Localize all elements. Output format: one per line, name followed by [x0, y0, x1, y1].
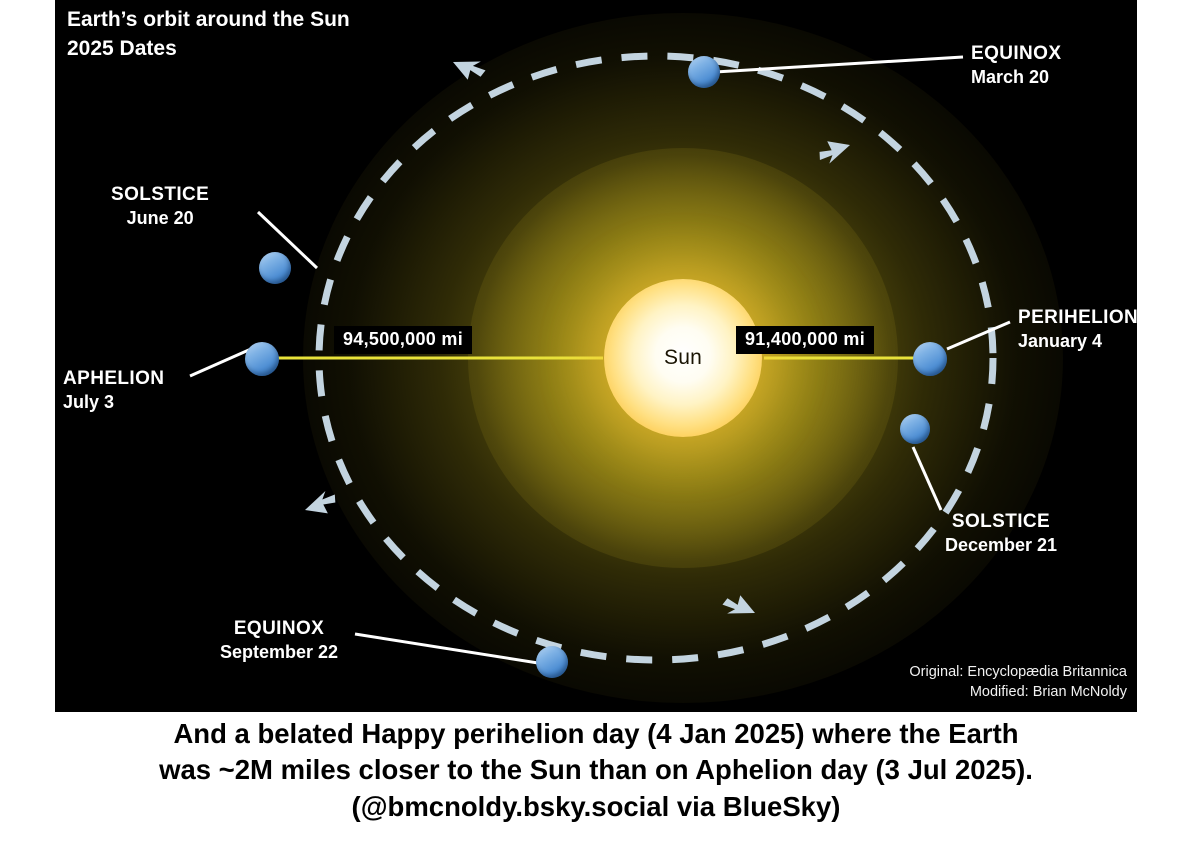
label-aphelion-date: July 3	[63, 391, 164, 414]
earth-marker-solstice-december[interactable]	[900, 414, 930, 444]
leader-line-solstice-december	[913, 447, 941, 510]
orbit-graphics	[55, 0, 1137, 712]
label-aphelion-event: APHELION	[63, 367, 164, 391]
label-equinox-september-date: September 22	[220, 641, 338, 664]
caption-line-3: (@bmcnoldy.bsky.social via BlueSky)	[0, 789, 1192, 825]
label-equinox-march-event: EQUINOX	[971, 42, 1061, 66]
orbit-direction-arrow	[453, 52, 487, 84]
label-equinox-september: EQUINOX September 22	[220, 617, 338, 664]
label-solstice-december-date: December 21	[945, 534, 1057, 557]
earth-marker-equinox-march[interactable]	[688, 56, 720, 88]
diagram-title-line-1: Earth’s orbit around the Sun	[67, 8, 350, 31]
label-perihelion-event: PERIHELION	[1018, 306, 1137, 330]
leader-line-perihelion	[947, 322, 1010, 349]
earth-marker-solstice-june[interactable]	[259, 252, 291, 284]
orbit-direction-arrow	[721, 591, 755, 623]
sun-body: Sun	[604, 279, 762, 437]
sun-label: Sun	[664, 346, 702, 370]
leader-line-equinox-march	[715, 57, 963, 72]
diagram-credit: Original: Encyclopædia Britannica Modifi…	[909, 663, 1127, 702]
orbit-direction-arrow	[816, 134, 850, 169]
earth-marker-aphelion[interactable]	[245, 342, 279, 376]
label-equinox-september-event: EQUINOX	[220, 617, 338, 641]
earth-marker-perihelion[interactable]	[913, 342, 947, 376]
earth-marker-equinox-september[interactable]	[536, 646, 568, 678]
caption-line-2: was ~2M miles closer to the Sun than on …	[0, 752, 1192, 788]
label-solstice-june: SOLSTICE June 20	[111, 183, 209, 230]
diagram-title: Earth’s orbit around the Sun 2025 Dates	[67, 6, 350, 64]
label-equinox-march: EQUINOX March 20	[971, 42, 1061, 89]
aphelion-distance-label: 94,500,000 mi	[334, 326, 472, 354]
orbit-diagram-panel: Earth’s orbit around the Sun 2025 Dates …	[55, 0, 1137, 712]
label-equinox-march-date: March 20	[971, 66, 1061, 89]
label-perihelion-date: January 4	[1018, 330, 1137, 353]
diagram-title-line-2: 2025 Dates	[67, 37, 177, 60]
credit-original: Original: Encyclopædia Britannica	[909, 663, 1127, 682]
perihelion-distance-label: 91,400,000 mi	[736, 326, 874, 354]
label-aphelion: APHELION July 3	[63, 367, 164, 414]
label-solstice-june-date: June 20	[111, 207, 209, 230]
label-solstice-june-event: SOLSTICE	[111, 183, 209, 207]
caption-block: And a belated Happy perihelion day (4 Ja…	[0, 716, 1192, 825]
page-root: Earth’s orbit around the Sun 2025 Dates …	[0, 0, 1192, 852]
leader-line-aphelion	[190, 349, 251, 376]
label-solstice-december: SOLSTICE December 21	[945, 510, 1057, 557]
label-perihelion: PERIHELION January 4	[1018, 306, 1137, 353]
label-solstice-december-event: SOLSTICE	[945, 510, 1057, 534]
caption-line-1: And a belated Happy perihelion day (4 Ja…	[0, 716, 1192, 752]
orbit-direction-arrow	[305, 486, 338, 521]
credit-modified: Modified: Brian McNoldy	[909, 683, 1127, 702]
leader-line-equinox-september	[355, 634, 538, 663]
